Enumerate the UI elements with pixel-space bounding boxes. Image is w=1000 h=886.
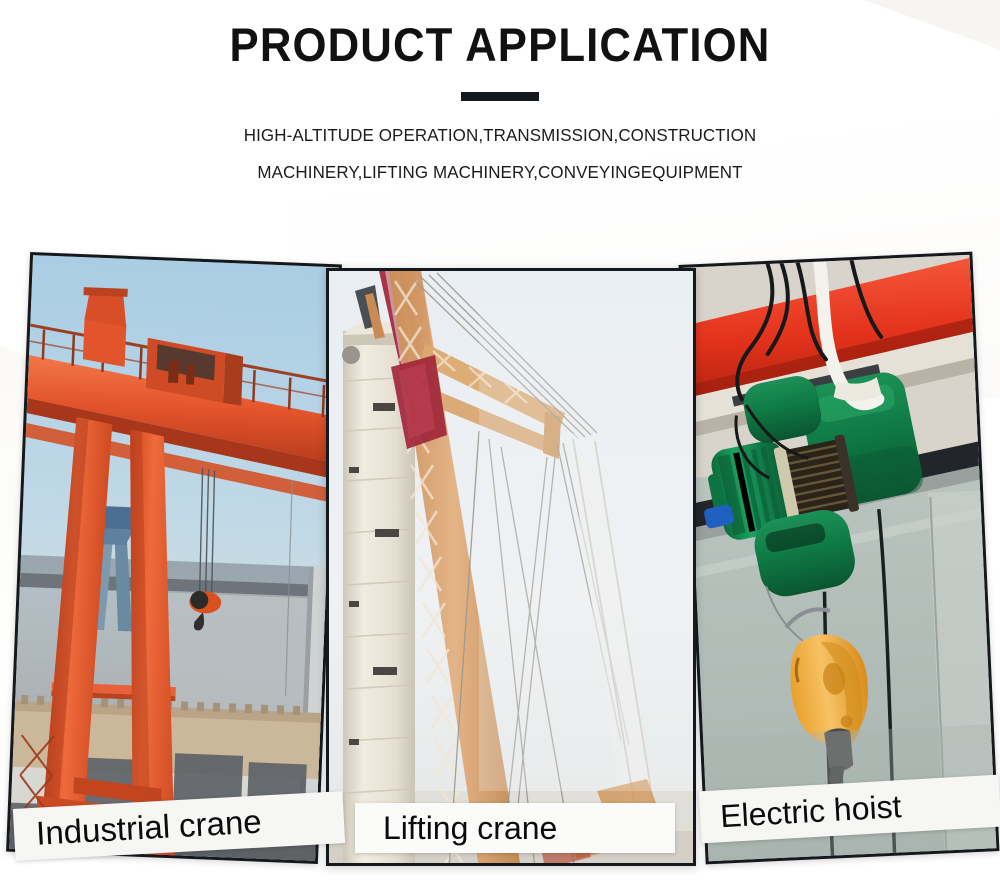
electric-hoist-image — [682, 255, 997, 861]
subtitle-line-2: MACHINERY,LIFTING MACHINERY,CONVEYINGEQU… — [15, 154, 985, 191]
panel-industrial-crane[interactable] — [6, 252, 342, 864]
banner-header: PRODUCT APPLICATION HIGH-ALTITUDE OPERAT… — [0, 16, 1000, 191]
caption-lifting-crane: Lifting crane — [355, 803, 675, 853]
subtitle-block: HIGH-ALTITUDE OPERATION,TRANSMISSION,CON… — [0, 117, 1000, 191]
title-divider — [461, 92, 539, 101]
crawler-crane-image — [329, 271, 693, 863]
subtitle-line-1: HIGH-ALTITUDE OPERATION,TRANSMISSION,CON… — [15, 117, 985, 154]
panel-electric-hoist[interactable] — [679, 252, 1000, 865]
panel-lifting-crane[interactable] — [326, 268, 696, 866]
page-title: PRODUCT APPLICATION — [35, 16, 965, 74]
banner-stage: PRODUCT APPLICATION HIGH-ALTITUDE OPERAT… — [0, 0, 1000, 886]
gantry-crane-image — [9, 255, 339, 861]
